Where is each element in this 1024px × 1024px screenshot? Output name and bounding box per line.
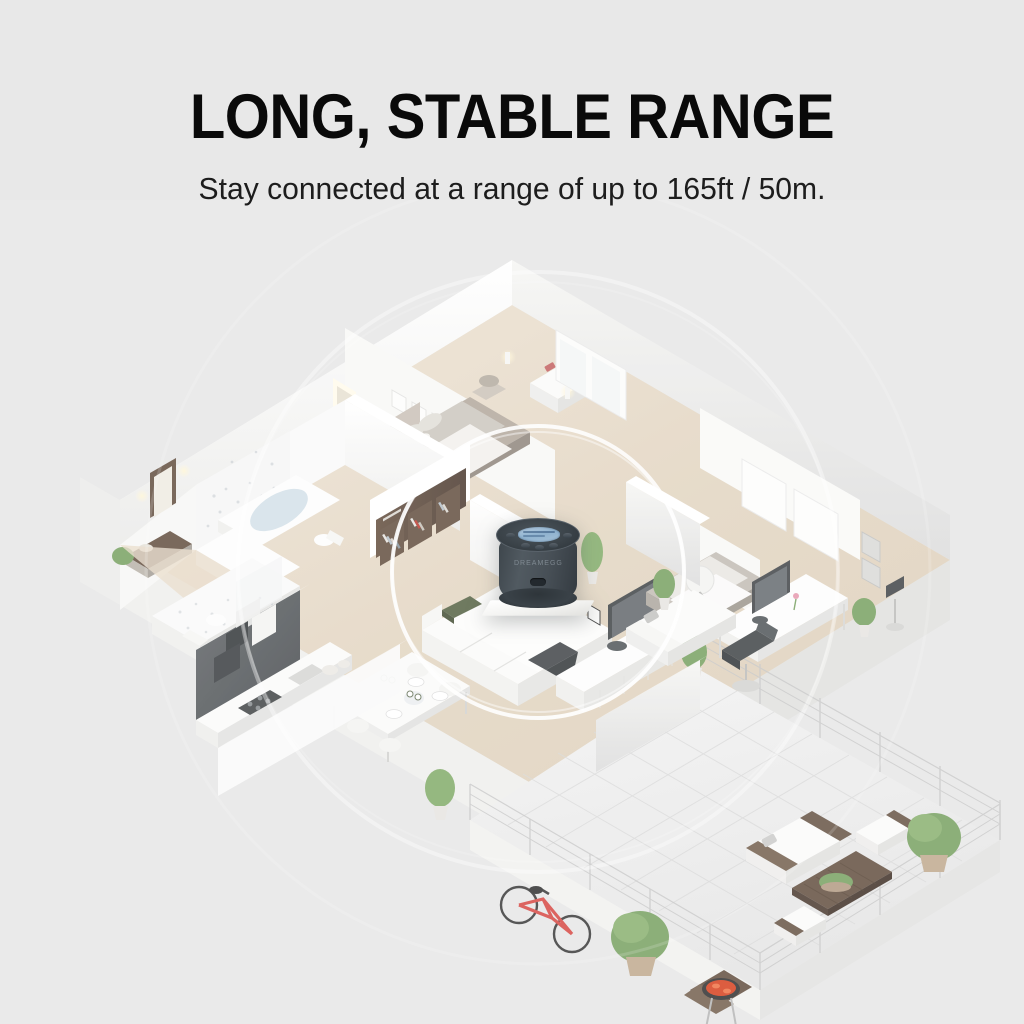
promo-graphic: LONG, STABLE RANGE Stay connected at a r… bbox=[0, 0, 1024, 1024]
floorplan-scene: DREAMEGG bbox=[0, 200, 1024, 1024]
device-button-3[interactable] bbox=[535, 545, 544, 550]
header: LONG, STABLE RANGE Stay connected at a r… bbox=[0, 0, 1024, 207]
device-button-2[interactable] bbox=[521, 543, 530, 548]
device-brand-label: DREAMEGG bbox=[514, 560, 562, 568]
page-subtitle: Stay connected at a range of up to 165ft… bbox=[15, 149, 1008, 207]
page-title: LONG, STABLE RANGE bbox=[41, 0, 983, 149]
device-button-1[interactable] bbox=[506, 533, 515, 538]
device-button-4[interactable] bbox=[549, 543, 558, 548]
wireless-base-station[interactable]: DREAMEGG bbox=[496, 516, 580, 616]
device-top-panel[interactable] bbox=[496, 518, 580, 552]
device-lcd-screen bbox=[518, 527, 560, 542]
device-port bbox=[530, 578, 546, 586]
device-button-5[interactable] bbox=[563, 533, 572, 538]
